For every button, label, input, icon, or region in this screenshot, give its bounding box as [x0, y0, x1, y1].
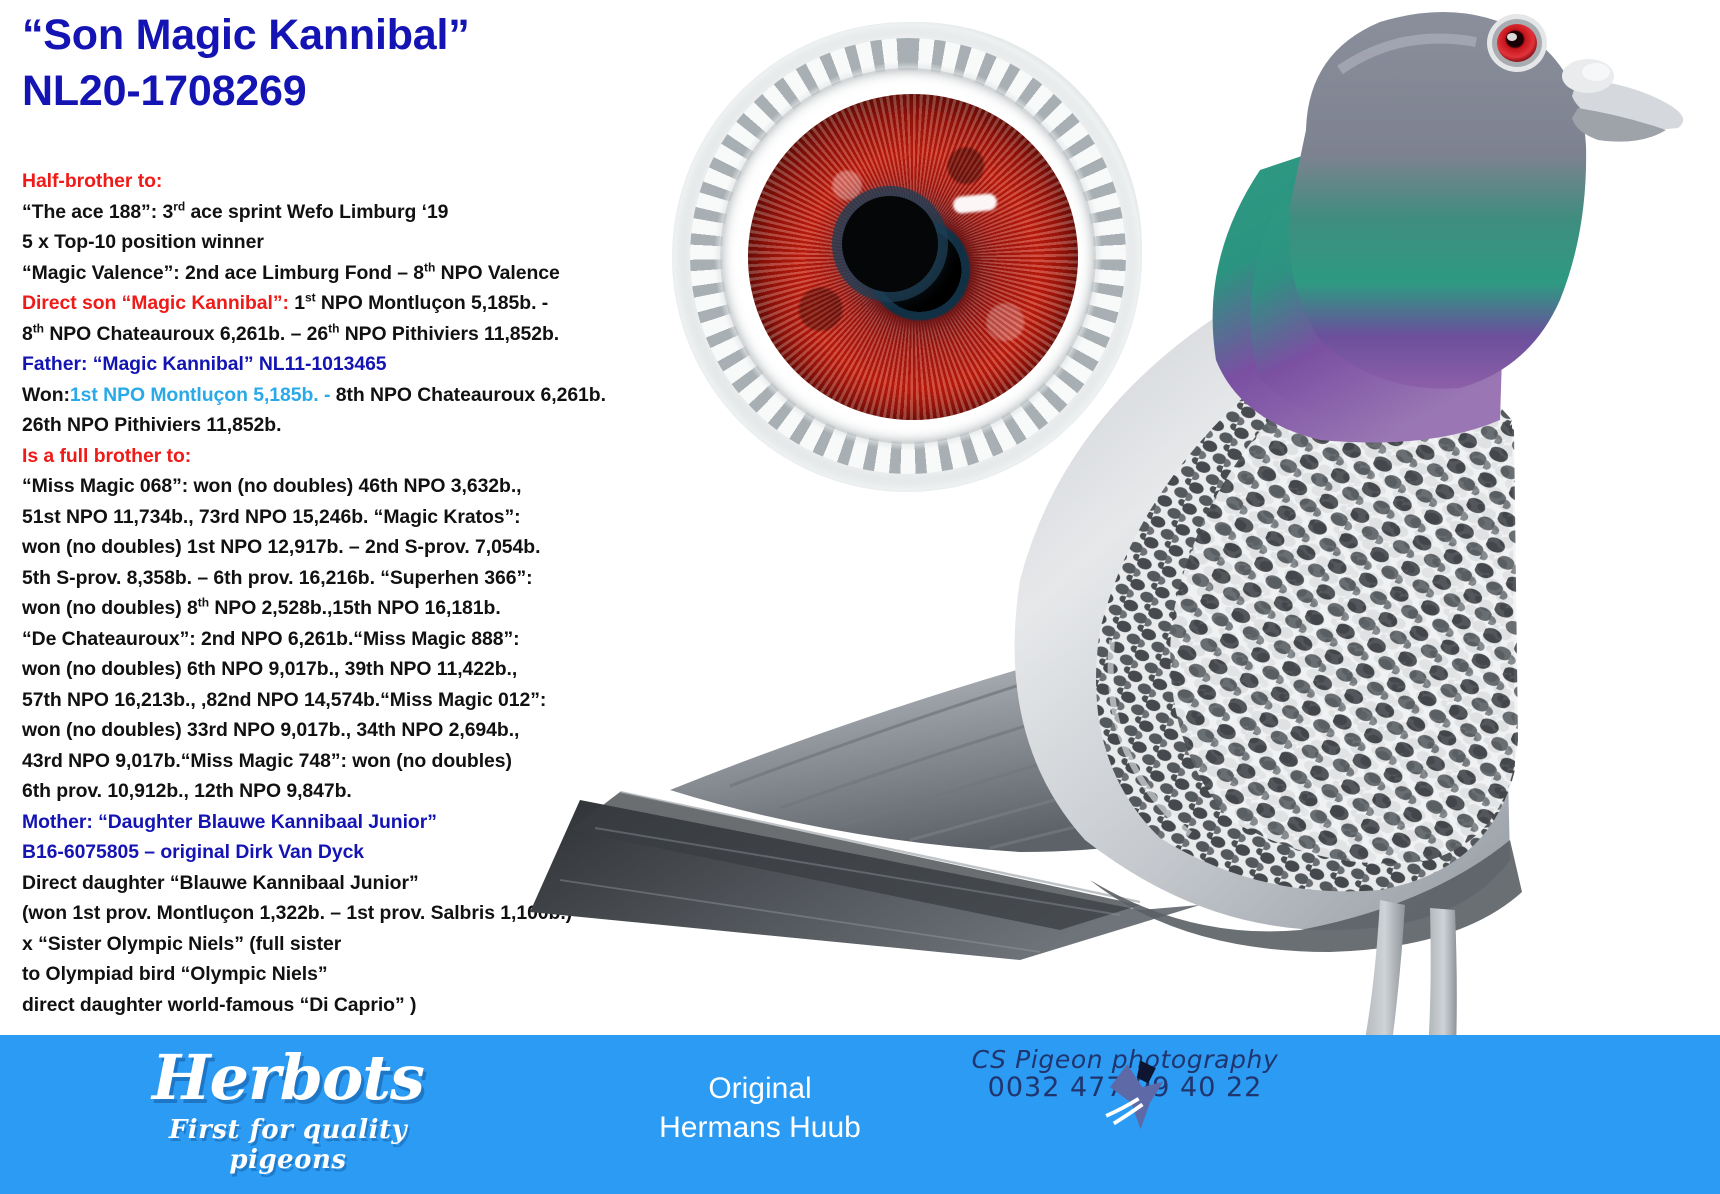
footer-bar: Herbots First for quality pigeons Origin…	[0, 1035, 1720, 1194]
pigeon-name: “Son Magic Kannibal”	[22, 8, 470, 64]
won-label: Won:	[22, 384, 70, 406]
direct-son-label: Direct son “Magic Kannibal”:	[22, 292, 289, 314]
herbots-logo: Herbots First for quality pigeons	[108, 1047, 468, 1175]
origin-line-1: Original	[560, 1069, 960, 1108]
pigeon-head	[1289, 12, 1684, 389]
won-highlight: 1st NPO Montluçon 5,185b. -	[70, 384, 330, 406]
pigeon-eye-small	[1487, 14, 1547, 72]
pedigree-card: “Son Magic Kannibal” NL20-1708269 Half-b…	[0, 0, 1720, 1194]
pigeon-photo: 1708269	[500, 0, 1720, 1120]
origin-text: Original Hermans Huub	[560, 1069, 960, 1147]
herbots-brand-name: Herbots	[108, 1047, 468, 1109]
dove-icon	[1083, 1049, 1179, 1135]
ring-number: NL20-1708269	[22, 64, 470, 120]
photographer-credit: CS Pigeon photography 0032 477 99 40 22	[965, 1045, 1285, 1103]
herbots-tagline: First for quality pigeons	[108, 1115, 468, 1175]
origin-line-2: Hermans Huub	[560, 1108, 960, 1147]
pigeon-beak	[1562, 59, 1683, 142]
page-title: “Son Magic Kannibal” NL20-1708269	[22, 8, 470, 120]
